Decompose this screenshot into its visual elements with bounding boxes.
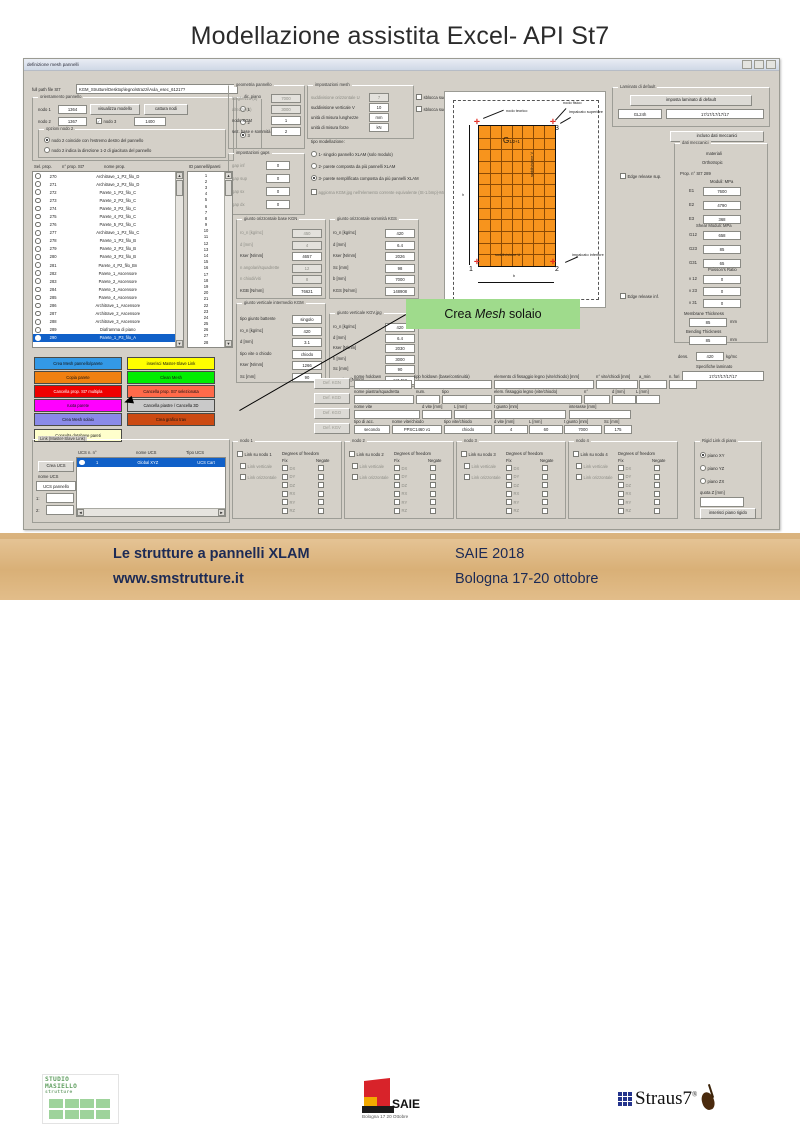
table-row[interactable]: 285Parete_4_Ascensore (33, 293, 175, 301)
geom-input-2[interactable]: 1 (271, 116, 301, 125)
table3-input-5[interactable]: 7000 (564, 425, 602, 434)
rigid-option-yz[interactable]: piano YZ (700, 465, 724, 471)
mesh-label-3: unità di misura forze (311, 125, 349, 130)
bending-input[interactable]: 85 (689, 336, 727, 345)
node4-negate-dz[interactable] (654, 482, 662, 488)
node4-link-checkbox[interactable]: Link su nodo 4 (573, 451, 608, 457)
row-radio[interactable] (35, 303, 41, 309)
node1-fix-dy[interactable]: DY (282, 474, 295, 480)
table1-header-5: d [mm] (612, 389, 625, 394)
def-button-1[interactable]: Def. KGD (314, 393, 350, 404)
node1-sub-checkbox-1[interactable]: Link orizzontale (240, 474, 277, 480)
minimize-icon[interactable] (742, 60, 752, 69)
list-item-value: 13 (190, 247, 222, 252)
command-button-8[interactable]: Crea Mesh solaio (34, 413, 122, 426)
table1-header-6: L [mm] (636, 389, 649, 394)
joint-jpg-input-1[interactable]: 6.4 (385, 334, 415, 343)
node1-negate-ry[interactable] (318, 499, 326, 505)
row-radio[interactable] (35, 246, 41, 252)
row-radio[interactable] (35, 230, 41, 236)
table1-input-4[interactable] (584, 395, 610, 404)
model-type-option-1[interactable]: 1- singolo pannello XLAM (solo modulo) (311, 151, 393, 157)
node2-options-caption: opzioni nodo 2 (44, 126, 75, 131)
list-item[interactable]: 24 (188, 314, 224, 320)
joint-top-input-3[interactable]: 98 (385, 264, 415, 273)
ucs-row-radio[interactable] (79, 460, 85, 466)
node3-fix-dy[interactable]: DY (506, 474, 519, 480)
node1-fix-ry[interactable]: RY (282, 499, 295, 505)
table2-input-1[interactable] (422, 410, 452, 419)
node2-negate-dy[interactable] (430, 474, 438, 480)
node2-sub-checkbox-0[interactable]: Link verticale (352, 463, 384, 469)
gap-input-3[interactable]: 0 (266, 200, 290, 209)
node2-input[interactable]: 1367 (58, 117, 87, 126)
node4-dof-header: Degrees of freedom (618, 451, 655, 456)
node4-fix-dx[interactable]: DX (618, 465, 631, 471)
table3-input-3[interactable]: 4 (494, 425, 528, 434)
list-item[interactable]: 20 (188, 290, 224, 296)
node1-negate-rx[interactable] (318, 491, 326, 497)
node1-negate-dy[interactable] (318, 474, 326, 480)
shear-input-1[interactable]: 85 (703, 245, 741, 254)
id-scroll-thumb[interactable] (225, 180, 232, 196)
ucs-name-input[interactable]: UCS pannello (36, 481, 76, 491)
row-radio[interactable] (35, 335, 41, 341)
node1-negate-rz[interactable] (318, 508, 326, 514)
node2-negate-dx[interactable] (430, 465, 438, 471)
node3-fix-ry[interactable]: RY (506, 499, 519, 505)
geom-input-3[interactable]: 2 (271, 127, 301, 136)
table0-input-4[interactable] (639, 380, 667, 389)
table-row[interactable]: 289Diaframma di piano (33, 326, 175, 334)
command-button-3[interactable]: Clean Mesh (127, 371, 215, 384)
id-list-scrollbar[interactable]: ▲ ▼ (224, 172, 232, 347)
node2-negate-rx[interactable] (430, 491, 438, 497)
table-row[interactable]: 284Parete_3_Ascensore (33, 285, 175, 293)
joint-base-input-5[interactable]: 76621 (292, 287, 322, 296)
list-item[interactable]: 13 (188, 246, 224, 252)
row-radio[interactable] (35, 214, 41, 220)
table3-input-6[interactable]: 175 (604, 425, 632, 434)
node2-fix-rx[interactable]: RX (394, 491, 407, 497)
node4-negate-ry[interactable] (654, 499, 662, 505)
mesh-input-2[interactable]: mm (369, 113, 389, 122)
row-radio[interactable] (35, 295, 41, 301)
node1-negate-dz[interactable] (318, 482, 326, 488)
node2-col-fix: Fix (394, 458, 400, 463)
row-radio[interactable] (35, 173, 41, 179)
gaps-caption: impostazioni gaps (234, 150, 272, 155)
row-radio[interactable] (35, 206, 41, 212)
property-listbox[interactable]: 270Architrave_1_P2_filo_D271Architrave_2… (32, 171, 184, 348)
table-row[interactable]: 274Parete_3_P2_filo_C (33, 204, 175, 212)
node3-sub-checkbox-1[interactable]: Link orizzontale (464, 474, 501, 480)
edge-release-inf-checkbox[interactable]: Edge release inf. (620, 293, 659, 299)
node2-fix-dz[interactable]: DZ (394, 482, 407, 488)
node4-sub-checkbox-1[interactable]: Link orizzontale (576, 474, 613, 480)
table-row[interactable]: 275Parete_4_P2_filo_C (33, 212, 175, 220)
joint-mid-input-1[interactable]: 420 (292, 327, 322, 336)
list-item-value: 10 (190, 228, 222, 233)
command-button-9[interactable]: Crea grafico trav (127, 413, 215, 426)
table-row[interactable]: 282Parete_1_Ascensore (33, 269, 175, 277)
node2-options-group: opzioni nodo 2 (38, 129, 226, 158)
modulus-input-0[interactable]: 7600 (703, 187, 741, 196)
close-icon[interactable] (766, 60, 776, 69)
node2-fix-dy[interactable]: DY (394, 474, 407, 480)
path-label: full path file St7 (32, 87, 61, 92)
row-radio[interactable] (35, 198, 41, 204)
poisson-input-0[interactable]: 0 (703, 275, 741, 284)
table0-input-2[interactable] (494, 380, 594, 389)
node2-option-1[interactable]: nodo 2 coincide con l'estremo destro del… (44, 137, 143, 143)
table-row[interactable]: 288Architrave_3_Ascensore (33, 318, 175, 326)
table3-input-4[interactable]: 60 (529, 425, 563, 434)
scroll-thumb[interactable] (176, 180, 183, 196)
mesh-input-0[interactable]: 7 (369, 93, 389, 102)
rigid-option-xy[interactable]: piano XY (700, 452, 725, 458)
laminate-code-input[interactable]: GL24h (618, 109, 662, 119)
node4-negate-rx[interactable] (654, 491, 662, 497)
prop-list-header-0: Sel. prop. (34, 164, 52, 169)
list-item[interactable]: 10 (188, 228, 224, 234)
command-button-7[interactable]: Cancella piastre / Cancella 3D (127, 399, 215, 412)
list-item[interactable]: 26 (188, 327, 224, 333)
list-item[interactable]: 28 (188, 339, 224, 345)
node4-negate-rz[interactable] (654, 508, 662, 514)
node3-col-fix: Fix (506, 458, 512, 463)
list-item[interactable]: 9 (188, 222, 224, 228)
row-name: Parete_2_P2_filo_B (63, 246, 173, 251)
row-radio[interactable] (35, 189, 41, 195)
set-default-laminate-button[interactable]: imposta laminato di default (630, 95, 752, 106)
node1-fix-dx[interactable]: DX (282, 465, 295, 471)
ucs-row-type: UCS Cart (189, 460, 223, 465)
joint-base-label-5: KGB [N/mm] (240, 288, 264, 293)
update-kgm-checkbox[interactable]: aggiorna KGM.jpg nell'elemento corrente … (311, 189, 459, 195)
list-item[interactable]: 23 (188, 308, 224, 314)
def-button-3[interactable]: Def. KGV (314, 423, 350, 434)
model-type-option-2[interactable]: 2- parete composta da più pannelli XLAM (311, 163, 395, 169)
table-row[interactable]: 270Architrave_1_P2_filo_D (33, 172, 175, 180)
list-item[interactable]: 14 (188, 252, 224, 258)
table-row[interactable]: 287Architrave_2_Ascensore (33, 310, 175, 318)
list-item-value: 19 (190, 284, 222, 289)
node1-fix-rz[interactable]: RZ (282, 508, 295, 514)
joint-mid-input-2[interactable]: 3.1 (292, 338, 322, 347)
row-number: 273 (44, 198, 63, 203)
list-item[interactable]: 3 (188, 184, 224, 190)
joint-base-input-3[interactable]: 12 (292, 264, 322, 273)
capture-nodes-button[interactable]: cattura nodi (144, 104, 188, 115)
gap-input-1[interactable]: 0 (266, 174, 290, 183)
node4-sub-checkbox-0[interactable]: Link verticale (576, 463, 608, 469)
create-ucs-button[interactable]: Crea UCS (38, 461, 74, 472)
node3-fix-rx[interactable]: RX (506, 491, 519, 497)
table3-input-1[interactable]: PPSC1460 v1 (392, 425, 442, 434)
scroll-down-icon[interactable]: ▼ (176, 340, 183, 347)
row-number: 277 (44, 230, 63, 235)
joint-base-input-2[interactable]: 4657 (292, 252, 322, 261)
node2-link-checkbox[interactable]: Link su nodo 2 (349, 451, 384, 457)
maximize-icon[interactable] (754, 60, 764, 69)
hscroll-right-icon[interactable]: ► (218, 509, 225, 516)
geom-input-1[interactable]: 3000 (271, 105, 301, 114)
joint-top-input-1[interactable]: 6.4 (385, 241, 415, 250)
row-name: Parete_2_P2_filo_C (63, 198, 173, 203)
node3-checkbox[interactable]: ✓nodo 3 (96, 118, 116, 124)
node1-sub-checkbox-0[interactable]: Link verticale (240, 463, 272, 469)
node1-link-checkbox[interactable]: Link su nodo 1 (237, 451, 272, 457)
node4-fix-dz[interactable]: DZ (618, 482, 631, 488)
list-item[interactable]: 11 (188, 234, 224, 240)
list-item-value: 22 (190, 303, 222, 308)
table0-input-3[interactable] (596, 380, 638, 389)
list-item[interactable]: 1 (188, 172, 224, 178)
gap-input-0[interactable]: 0 (266, 161, 290, 170)
laminate-spec-input[interactable]: 17/17/17/17/17 (666, 109, 764, 119)
joint-top-input-5[interactable]: 148908 (385, 287, 415, 296)
node2-negate-dz[interactable] (430, 482, 438, 488)
row-radio[interactable] (35, 287, 41, 293)
node3-sub-checkbox-0[interactable]: Link verticale (464, 463, 496, 469)
node3-negate-dx[interactable] (542, 465, 550, 471)
row-radio[interactable] (35, 327, 41, 333)
table1-input-3[interactable] (494, 395, 582, 404)
table2-input-2[interactable] (454, 410, 492, 419)
scroll-up-icon[interactable]: ▲ (176, 172, 183, 179)
mesh-input-1[interactable]: 10 (369, 103, 389, 112)
row-radio[interactable] (35, 262, 41, 268)
list-item[interactable]: 6 (188, 203, 224, 209)
footer-text-2[interactable]: www.smstrutture.it (113, 571, 244, 587)
row-number: 288 (44, 319, 63, 324)
list-item-value: 23 (190, 309, 222, 314)
table1-input-6[interactable] (636, 395, 660, 404)
list-item[interactable]: 16 (188, 265, 224, 271)
list-item[interactable]: 27 (188, 333, 224, 339)
node2-fix-rz[interactable]: RZ (394, 508, 407, 514)
joint-base-input-4[interactable]: 8 (292, 275, 322, 284)
gap-label-0: gap inf (232, 163, 245, 168)
table0-input-5[interactable] (669, 380, 697, 389)
table-row[interactable]: 272Parete_1_P2_filo_C (33, 188, 175, 196)
joint-top-input-4[interactable]: 7000 (385, 275, 415, 284)
row-number: 275 (44, 214, 63, 219)
list-item[interactable]: 5 (188, 197, 224, 203)
shear-input-0[interactable]: 658 (703, 231, 741, 240)
membrane-label: Membrane Thickness (684, 311, 724, 316)
joint-mid-input-3[interactable]: chiodo (292, 350, 322, 359)
table-row[interactable]: 290Parete_1_P3_filo_A (33, 334, 175, 342)
node3-negate-rz[interactable] (542, 508, 550, 514)
list-item[interactable]: 4 (188, 191, 224, 197)
poisson-input-1[interactable]: 0 (703, 287, 741, 296)
table2-input-4[interactable] (569, 410, 631, 419)
density-input[interactable]: 420 (696, 352, 724, 361)
table-row[interactable]: 278Parete_1_P2_filo_B (33, 237, 175, 245)
list-item-value: 1 (190, 173, 222, 178)
label-suddivisione-u: suddivisione U (495, 252, 520, 257)
def-button-2[interactable]: Def. KGO (314, 408, 350, 419)
command-button-1[interactable]: inserisci Master-Slave Link (127, 357, 215, 370)
list-item[interactable]: 7 (188, 209, 224, 215)
node3-negate-ry[interactable] (542, 499, 550, 505)
row-radio[interactable] (35, 278, 41, 284)
id-scroll-up-icon[interactable]: ▲ (225, 172, 232, 179)
table1-input-2[interactable] (442, 395, 492, 404)
table-row[interactable]: 283Parete_2_Ascensore (33, 277, 175, 285)
table-row[interactable]: 279Parete_2_P2_filo_B (33, 245, 175, 253)
node3-negate-dz[interactable] (542, 482, 550, 488)
row-radio[interactable] (35, 254, 41, 260)
table0-input-0[interactable] (354, 380, 412, 389)
node1-input[interactable]: 1364 (58, 105, 87, 114)
node1-negate-dx[interactable] (318, 465, 326, 471)
node4-negate-dx[interactable] (654, 465, 662, 471)
list-item[interactable]: 18 (188, 277, 224, 283)
node2-option-2[interactable]: nodo 2 indica la direzione 1-2 di giacit… (44, 147, 151, 153)
node3-input[interactable]: 1400 (134, 117, 166, 126)
model-type-option-3[interactable]: 3- parete semplificata composta da più p… (311, 175, 419, 181)
command-button-5[interactable]: Cancella prop. St7 selezionata (127, 385, 215, 398)
joint-base-input-1[interactable]: 4 (292, 241, 322, 250)
list-item[interactable]: 19 (188, 283, 224, 289)
table3-input-2[interactable]: chiodo (444, 425, 492, 434)
node4-fix-ry[interactable]: RY (618, 499, 631, 505)
table-row[interactable]: 281Parete_4_P2_filo_Bn (33, 261, 175, 269)
gap-input-2[interactable]: 0 (266, 187, 290, 196)
insert-rigid-plane-button[interactable]: inserisci piano rigido (700, 508, 756, 519)
node4-fix-rz[interactable]: RZ (618, 508, 631, 514)
node2-negate-ry[interactable] (430, 499, 438, 505)
ucs-listbox[interactable]: 1 Global XYZ UCS Cart ◄ ► (76, 457, 226, 517)
link-n1-input[interactable] (46, 493, 74, 503)
poisson-input-2[interactable]: 0 (703, 299, 741, 308)
modulus-input-1[interactable]: 4790 (703, 201, 741, 210)
list-item-value: 7 (190, 210, 222, 215)
link-n2-input[interactable] (46, 505, 74, 515)
node3-fix-dz[interactable]: DZ (506, 482, 519, 488)
node3-fix-dx[interactable]: DX (506, 465, 519, 471)
id-listbox[interactable]: 1234567891011121314151617181920212223242… (187, 171, 233, 348)
command-button-6[interactable]: ruota parete (34, 399, 122, 412)
row-radio[interactable] (35, 319, 41, 325)
mesh-hline (479, 243, 555, 244)
row-number: 270 (44, 174, 63, 179)
table1-input-1[interactable] (416, 395, 440, 404)
edge-release-sup-checkbox[interactable]: Edge release sup. (620, 173, 661, 179)
table-row[interactable]: 271Architrave_2_P2_filo_D (33, 180, 175, 188)
node4-fix-dy[interactable]: DY (618, 474, 631, 480)
table-row[interactable]: 280Parete_3_P2_filo_B (33, 253, 175, 261)
row-radio[interactable] (35, 311, 41, 317)
moduli-header: Moduli: MPa (710, 179, 733, 184)
id-scroll-down-icon[interactable]: ▼ (225, 340, 232, 347)
node2-fix-dx[interactable]: DX (394, 465, 407, 471)
table2-header-4: interasse [mm] (569, 404, 596, 409)
table1-header-2: tipo (442, 389, 449, 394)
list-item[interactable]: 2 (188, 178, 224, 184)
ucs-row[interactable]: 1 Global XYZ UCS Cart (77, 458, 225, 467)
geom-input-0[interactable]: 7000 (271, 94, 301, 103)
joint-top-input-0[interactable]: 420 (385, 229, 415, 238)
node1-fix-rx[interactable]: RX (282, 491, 295, 497)
row-radio[interactable] (35, 270, 41, 276)
node4-fix-rx[interactable]: RX (618, 491, 631, 497)
rigid-option-zx[interactable]: piano ZX (700, 478, 724, 484)
row-radio[interactable] (35, 238, 41, 244)
list-item[interactable]: 22 (188, 302, 224, 308)
joint-jpg-input-4[interactable]: 90 (385, 365, 415, 374)
table2-header-2: L [mm] (454, 404, 467, 409)
node3-negate-rx[interactable] (542, 491, 550, 497)
table-row[interactable]: 273Parete_2_P2_filo_C (33, 196, 175, 204)
def-button-0[interactable]: Def. KGN (314, 378, 350, 389)
command-button-0[interactable]: Crea Mesh pannello/parete (34, 357, 122, 370)
joint-jpg-input-2[interactable]: 2030 (385, 344, 415, 353)
mesh-input-3[interactable]: kN (369, 123, 389, 132)
node3-fix-rz[interactable]: RZ (506, 508, 519, 514)
table-row[interactable]: 286Architrave_1_Ascensore (33, 302, 175, 310)
ucs-col-1: nome UCS (136, 450, 156, 455)
show-model-button[interactable]: visualizza modello (90, 104, 140, 115)
node4-negate-dy[interactable] (654, 474, 662, 480)
ucs-hscrollbar[interactable]: ◄ ► (77, 508, 225, 516)
rigid-quota-input[interactable] (700, 497, 744, 507)
node2-sub-checkbox-1[interactable]: Link orizzontale (352, 474, 389, 480)
row-number: 281 (44, 263, 63, 268)
list-item[interactable]: 12 (188, 240, 224, 246)
command-button-2[interactable]: Copia parete (34, 371, 122, 384)
node1-fix-dz[interactable]: DZ (282, 482, 295, 488)
node2-negate-rz[interactable] (430, 508, 438, 514)
table1-input-5[interactable] (612, 395, 636, 404)
membrane-input[interactable]: 85 (689, 318, 727, 327)
node3-negate-dy[interactable] (542, 474, 550, 480)
table3-input-0[interactable]: secondo (354, 425, 390, 434)
window-controls[interactable] (742, 60, 776, 69)
list-item[interactable]: 15 (188, 259, 224, 265)
table0-input-1[interactable] (414, 380, 492, 389)
path-input[interactable]: KGM_Strutture\Desktop\legno\strazzi\Aula… (76, 84, 238, 94)
joint-mid-label-4: Kser [N/mm] (240, 362, 263, 367)
table-row[interactable]: 277Architrave_1_P2_filo_C (33, 229, 175, 237)
row-radio[interactable] (35, 181, 41, 187)
node3-link-checkbox[interactable]: Link su nodo 3 (461, 451, 496, 457)
hscroll-left-icon[interactable]: ◄ (77, 509, 84, 516)
table2-input-3[interactable] (494, 410, 566, 419)
table1-input-0[interactable] (354, 395, 414, 404)
bending-unit: mm (730, 337, 737, 342)
list-item[interactable]: 21 (188, 296, 224, 302)
table-row[interactable]: 276Parete_5_P2_filo_C (33, 221, 175, 229)
row-name: Parete_4_P2_filo_Bn (63, 263, 173, 268)
property-list-scrollbar[interactable]: ▲ ▼ (175, 172, 183, 347)
list-item[interactable]: 8 (188, 215, 224, 221)
joint-top-input-2[interactable]: 2026 (385, 252, 415, 261)
joint-base-input-0[interactable]: 450 (292, 229, 322, 238)
joint-mid-input-0[interactable]: singolo (292, 315, 322, 324)
command-button-4[interactable]: Cancella prop. St7 multipla (34, 385, 122, 398)
table2-input-0[interactable] (354, 410, 420, 419)
list-item[interactable]: 17 (188, 271, 224, 277)
shear-label-2: G31 (689, 260, 697, 265)
list-item[interactable]: 25 (188, 321, 224, 327)
joint-jpg-input-3[interactable]: 3000 (385, 355, 415, 364)
node2-fix-ry[interactable]: RY (394, 499, 407, 505)
row-radio[interactable] (35, 222, 41, 228)
